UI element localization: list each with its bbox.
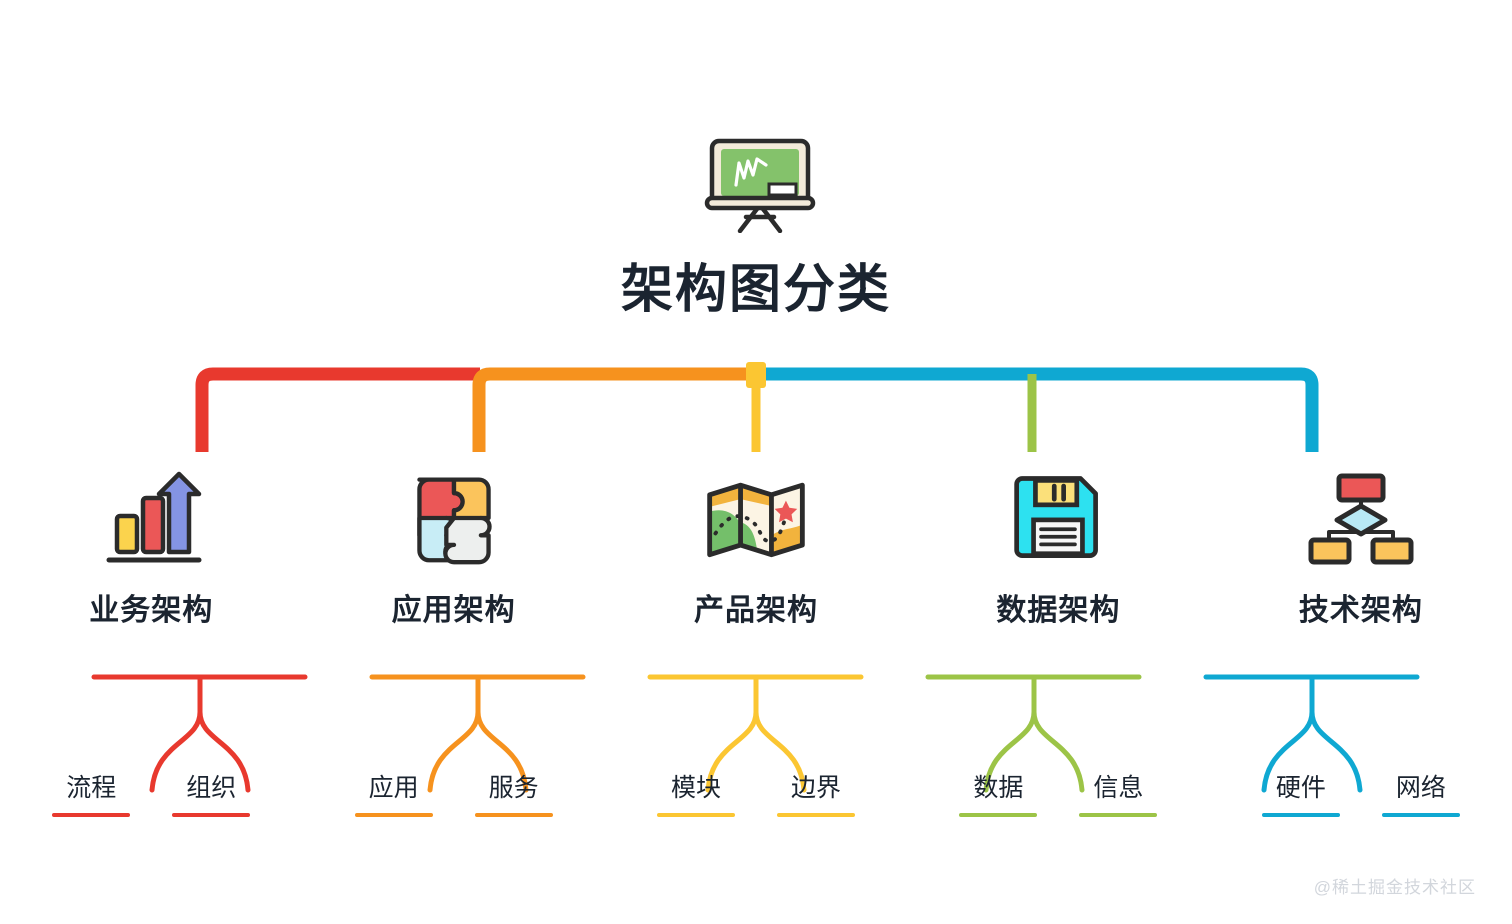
leaf-item[interactable]: 边界 <box>777 772 855 817</box>
leaf-item[interactable]: 服务 <box>475 772 553 817</box>
leaf-label: 组织 <box>172 772 250 804</box>
leaf-underline <box>657 813 735 817</box>
leaf-item[interactable]: 信息 <box>1079 772 1157 817</box>
leaf-label: 流程 <box>52 772 130 804</box>
leaf-item[interactable]: 数据 <box>959 772 1037 817</box>
category-column-technology[interactable]: 技术架构 硬件 网络 <box>1210 468 1512 888</box>
leaf-underline <box>777 813 855 817</box>
leaf-label: 硬件 <box>1262 772 1340 804</box>
leaf-underline <box>355 813 433 817</box>
leaf-label: 服务 <box>475 772 553 804</box>
leaf-row: 数据 信息 <box>907 772 1209 817</box>
leaf-item[interactable]: 硬件 <box>1262 772 1340 817</box>
leaf-underline <box>1079 813 1157 817</box>
category-column-product[interactable]: 产品架构 模块 边界 <box>605 468 907 888</box>
leaf-row: 应用 服务 <box>302 772 604 817</box>
category-column-data[interactable]: 数据架构 数据 信息 <box>907 468 1209 888</box>
leaf-underline <box>959 813 1037 817</box>
bar-chart-growth-icon <box>95 468 207 568</box>
leaf-row: 模块 边界 <box>605 772 907 817</box>
watermark: @稀土掘金技术社区 <box>1314 873 1476 898</box>
leaf-underline <box>1382 813 1460 817</box>
leaf-label: 信息 <box>1079 772 1157 804</box>
category-title: 技术架构 <box>1299 592 1423 630</box>
category-title: 产品架构 <box>694 592 818 630</box>
folded-map-icon <box>700 468 812 568</box>
page-title: 架构图分类 <box>0 258 1512 322</box>
category-title: 应用架构 <box>392 592 516 630</box>
diagram-canvas: 架构图分类 <box>0 0 1512 924</box>
leaf-row: 流程 组织 <box>0 772 302 817</box>
category-columns: 业务架构 流程 组织 <box>0 468 1512 888</box>
leaf-item[interactable]: 应用 <box>355 772 433 817</box>
leaf-label: 网络 <box>1382 772 1460 804</box>
leaf-label: 数据 <box>959 772 1037 804</box>
category-column-business[interactable]: 业务架构 流程 组织 <box>0 468 302 888</box>
puzzle-icon <box>398 468 510 568</box>
leaf-item[interactable]: 流程 <box>52 772 130 817</box>
category-column-application[interactable]: 应用架构 应用 服务 <box>302 468 604 888</box>
leaf-underline <box>172 813 250 817</box>
blackboard-icon <box>696 133 824 233</box>
leaf-underline <box>1262 813 1340 817</box>
leaf-item[interactable]: 网络 <box>1382 772 1460 817</box>
leaf-row: 硬件 网络 <box>1210 772 1512 817</box>
leaf-item[interactable]: 模块 <box>657 772 735 817</box>
category-title: 数据架构 <box>996 592 1120 630</box>
leaf-label: 应用 <box>355 772 433 804</box>
leaf-item[interactable]: 组织 <box>172 772 250 817</box>
leaf-label: 模块 <box>657 772 735 804</box>
floppy-disk-icon <box>1002 468 1114 568</box>
leaf-underline <box>52 813 130 817</box>
leaf-label: 边界 <box>777 772 855 804</box>
leaf-underline <box>475 813 553 817</box>
category-title: 业务架构 <box>89 592 213 630</box>
flowchart-icon <box>1305 468 1417 568</box>
